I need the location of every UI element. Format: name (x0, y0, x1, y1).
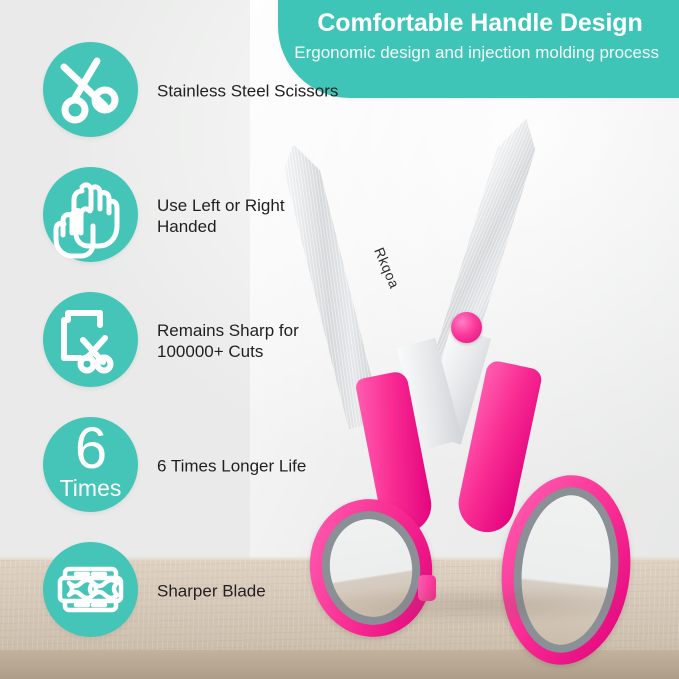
handle-right-hole (514, 491, 617, 649)
badge-word: Times (43, 475, 138, 502)
feature-item-longer-life: 6 Times 6 Times Longer Life (43, 417, 333, 514)
feature-label: Sharper Blade (157, 580, 342, 601)
feature-label: 6 Times Longer Life (157, 455, 342, 476)
scissors-icon (43, 42, 138, 137)
feature-item-handedness: Use Left or Right Handed (43, 167, 333, 264)
banner-subtitle: Ergonomic design and injection molding p… (288, 41, 667, 64)
feature-item-sharper-blade: Sharper Blade (43, 542, 333, 639)
banner-title: Comfortable Handle Design (294, 8, 666, 38)
feature-item-remains-sharp: Remains Sharp for 100000+ Cuts (43, 292, 333, 389)
product-shadow (330, 588, 630, 622)
pivot-screw (451, 312, 482, 343)
badge-content: 6 Times (43, 417, 138, 512)
feature-label: Remains Sharp for 100000+ Cuts (157, 320, 342, 362)
cut-frame-icon (43, 292, 138, 387)
feature-item-stainless-steel: Stainless Steel Scissors (43, 42, 333, 139)
six-times-badge: 6 Times (43, 417, 138, 512)
scissors-product-image: Rkqoa (300, 95, 679, 655)
two-hands-icon (43, 167, 138, 262)
feature-label: Stainless Steel Scissors (157, 80, 342, 101)
product-infographic: Comfortable Handle Design Ergonomic desi… (0, 0, 679, 679)
badge-number: 6 (43, 418, 138, 480)
razor-blade-icon (43, 542, 138, 637)
feature-label: Use Left or Right Handed (157, 195, 342, 237)
brand-engraving: Rkqoa (371, 245, 403, 291)
